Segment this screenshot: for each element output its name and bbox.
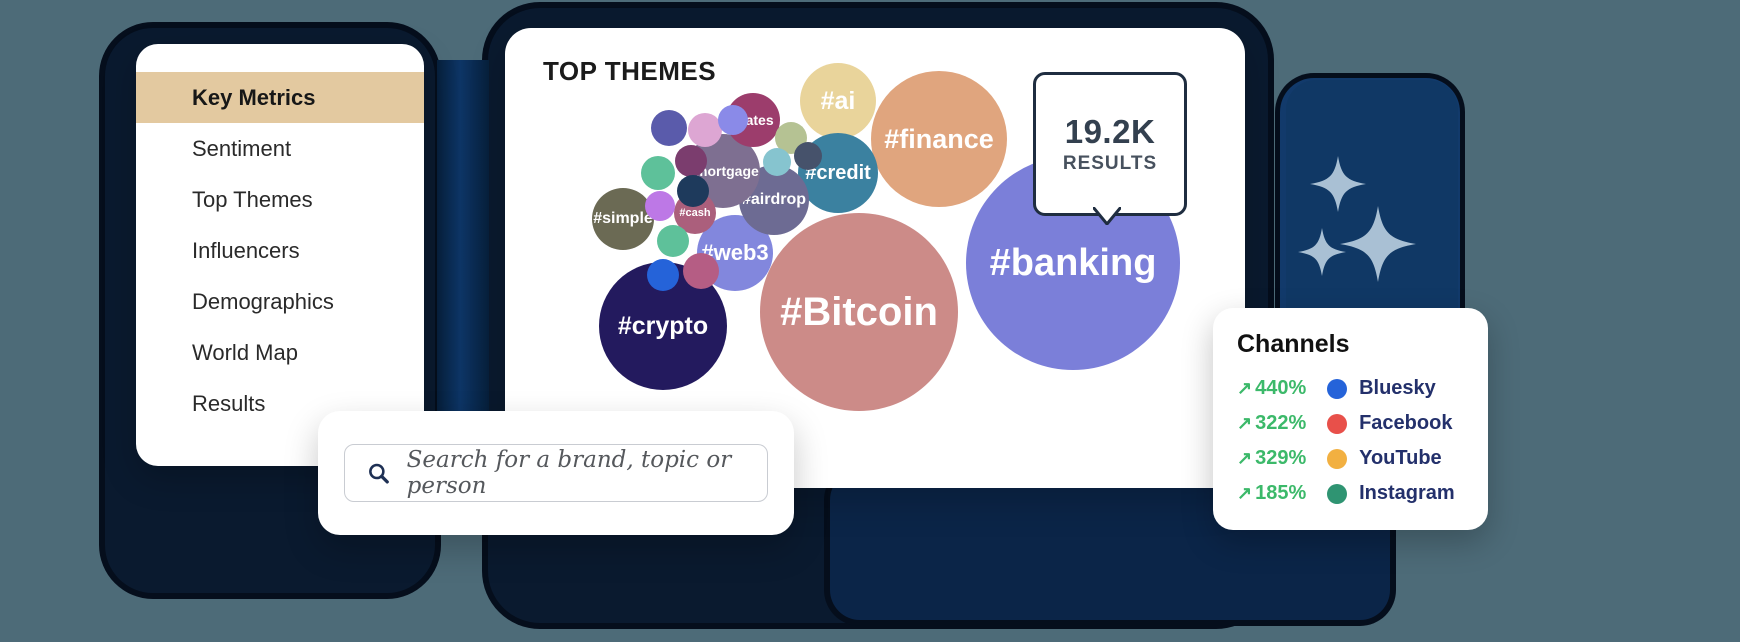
bubble-ai[interactable]: #ai — [800, 63, 876, 139]
sidebar-item-label: Influencers — [192, 238, 300, 264]
bubble-label: #ai — [821, 89, 856, 114]
channel-name: Instagram — [1359, 482, 1455, 505]
channels-card: Channels ↗440%Bluesky↗322%Facebook↗329%Y… — [1213, 308, 1488, 530]
sparkle-icon — [1340, 206, 1416, 282]
channel-row[interactable]: ↗329%YouTube — [1237, 441, 1488, 476]
channel-row[interactable]: ↗322%Facebook — [1237, 406, 1488, 441]
sidebar-item-label: Top Themes — [192, 187, 313, 213]
trend-up-icon: ↗ — [1237, 378, 1252, 399]
bubble-label: #cash — [679, 208, 710, 219]
sidebar-item-demographics[interactable]: Demographics — [136, 276, 424, 327]
sidebar-item-top-themes[interactable]: Top Themes — [136, 174, 424, 225]
trend-up-icon: ↗ — [1237, 413, 1252, 434]
sidebar-item-label: Demographics — [192, 289, 334, 315]
bubble-unlabeled[interactable] — [675, 145, 707, 177]
bubble-label: #crypto — [618, 314, 708, 339]
bubble-unlabeled[interactable] — [794, 142, 822, 170]
sparkle-icon — [1298, 228, 1346, 276]
sparkle-icon — [1310, 156, 1366, 212]
bubble-label: #Bitcoin — [780, 292, 938, 332]
results-label: RESULTS — [1063, 153, 1157, 175]
bubble-label: #simple — [593, 211, 653, 227]
bubble-Bitcoin[interactable]: #Bitcoin — [760, 213, 958, 411]
channel-name: Facebook — [1359, 412, 1452, 435]
channels-title: Channels — [1237, 330, 1488, 359]
bubble-label: #finance — [884, 126, 994, 153]
bubble-label: #banking — [990, 244, 1157, 282]
sidebar-item-label: Key Metrics — [192, 85, 316, 111]
bubble-unlabeled[interactable] — [651, 110, 687, 146]
sidebar-item-label: Results — [192, 391, 265, 417]
bubble-unlabeled[interactable] — [677, 175, 709, 207]
bubble-simple[interactable]: #simple — [592, 188, 654, 250]
sidebar-item-key-metrics[interactable]: Key Metrics — [136, 72, 424, 123]
bubble-unlabeled[interactable] — [641, 156, 675, 190]
bubble-unlabeled[interactable] — [718, 105, 748, 135]
search-input[interactable]: Search for a brand, topic or person — [344, 444, 768, 502]
sidebar-card: Key MetricsSentimentTop ThemesInfluencer… — [136, 44, 424, 466]
channel-percent: 329% — [1255, 447, 1321, 470]
channel-percent: 322% — [1255, 412, 1321, 435]
channel-name: Bluesky — [1359, 377, 1436, 400]
results-callout: 19.2K RESULTS — [1033, 72, 1187, 216]
channel-color-dot — [1327, 484, 1347, 504]
trend-up-icon: ↗ — [1237, 483, 1252, 504]
sidebar-nav: Key MetricsSentimentTop ThemesInfluencer… — [136, 44, 424, 429]
bubble-unlabeled[interactable] — [683, 253, 719, 289]
bubble-unlabeled[interactable] — [645, 191, 675, 221]
search-card: Search for a brand, topic or person — [318, 411, 794, 535]
trend-up-icon: ↗ — [1237, 448, 1252, 469]
channel-name: YouTube — [1359, 447, 1442, 470]
channel-percent: 440% — [1255, 377, 1321, 400]
sidebar-item-world-map[interactable]: World Map — [136, 327, 424, 378]
sidebar-item-label: World Map — [192, 340, 298, 366]
channel-color-dot — [1327, 379, 1347, 399]
bubble-unlabeled[interactable] — [657, 225, 689, 257]
callout-tail-icon — [1093, 207, 1121, 225]
channel-row[interactable]: ↗185%Instagram — [1237, 476, 1488, 511]
bubble-unlabeled[interactable] — [647, 259, 679, 291]
search-placeholder-text: Search for a brand, topic or person — [407, 447, 767, 499]
bubble-finance[interactable]: #finance — [871, 71, 1007, 207]
search-icon — [367, 460, 391, 487]
channel-row[interactable]: ↗440%Bluesky — [1237, 371, 1488, 406]
channels-list: ↗440%Bluesky↗322%Facebook↗329%YouTube↗18… — [1237, 371, 1488, 511]
sidebar-item-label: Sentiment — [192, 136, 291, 162]
channel-percent: 185% — [1255, 482, 1321, 505]
sidebar-item-influencers[interactable]: Influencers — [136, 225, 424, 276]
channel-color-dot — [1327, 414, 1347, 434]
bubble-unlabeled[interactable] — [763, 148, 791, 176]
channel-color-dot — [1327, 449, 1347, 469]
bubble-unlabeled[interactable] — [688, 113, 722, 147]
composition-stage: Key MetricsSentimentTop ThemesInfluencer… — [0, 0, 1740, 642]
results-value: 19.2K — [1065, 113, 1156, 151]
sidebar-item-sentiment[interactable]: Sentiment — [136, 123, 424, 174]
